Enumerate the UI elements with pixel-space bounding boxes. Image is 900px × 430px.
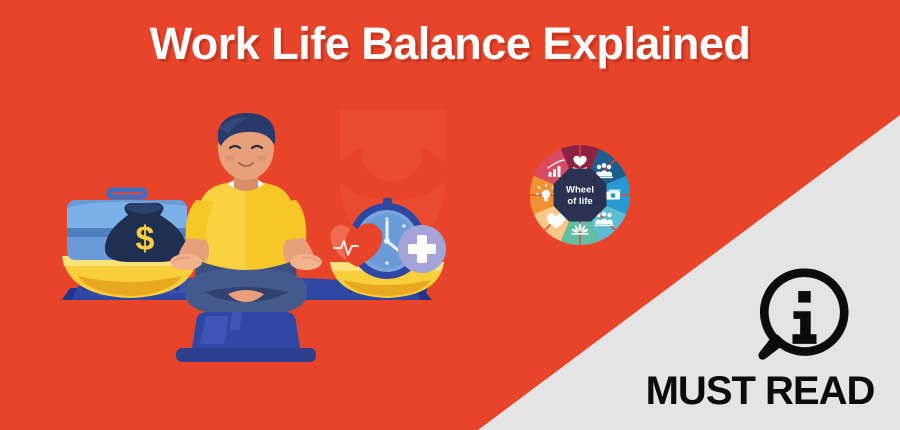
- page-title: Work Life Balance Explained: [0, 16, 900, 72]
- must-read-label: MUST READ: [640, 368, 880, 414]
- wheel-center-line1: Wheel: [566, 185, 594, 196]
- banner-root: $: [0, 0, 900, 430]
- info-speech-bubble-icon[interactable]: [756, 268, 852, 364]
- wheel-center-line2: of life: [567, 196, 592, 207]
- must-read-badge[interactable]: MUST READ: [640, 268, 880, 408]
- wheel-center-hub: Wheel of life: [554, 169, 607, 222]
